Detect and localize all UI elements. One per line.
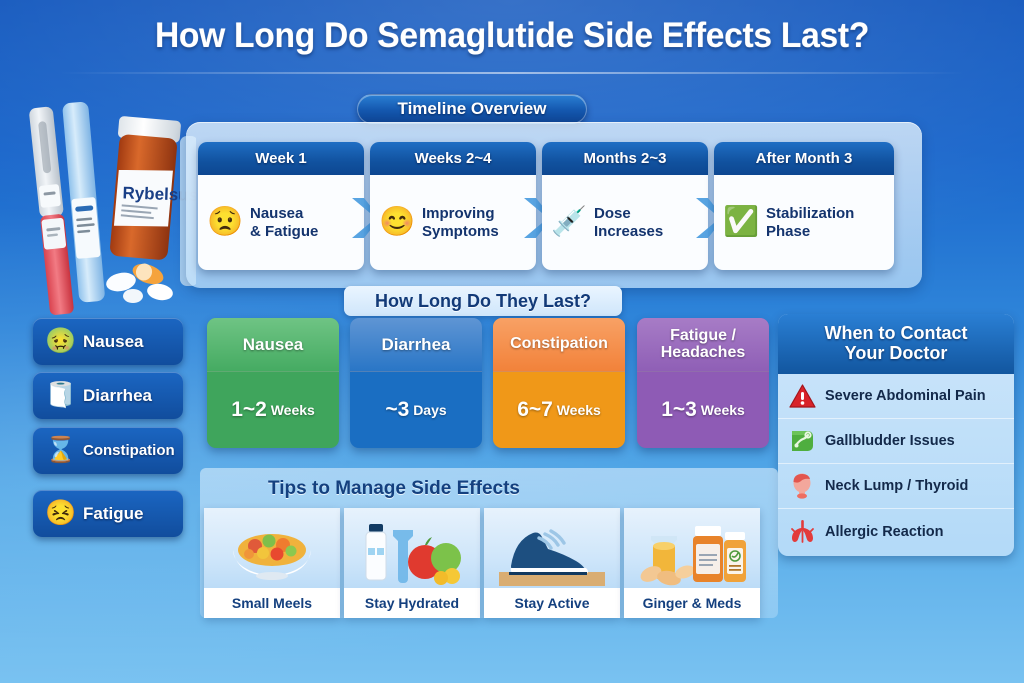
- page-title: How Long Do Semaglutide Side Effects Las…: [20, 16, 1003, 56]
- doctor-label-allergic-reaction: Allergic Reaction: [825, 524, 943, 540]
- ginger-meds-icon: [624, 508, 760, 588]
- duration-name-constipation: Constipation: [493, 318, 625, 372]
- contact-doctor-panel: When to Contact Your Doctor Severe Abdom…: [778, 314, 1014, 556]
- smiling-face-icon: 😊: [380, 206, 414, 240]
- contact-doctor-title-line2: Your Doctor: [845, 344, 948, 364]
- product-illustration: Rybelsus: [0, 96, 196, 326]
- duration-unit-constipation: Weeks: [557, 402, 601, 418]
- duration-unit-diarrhea: Days: [413, 402, 446, 418]
- duration-num-fatigue: 1~3: [661, 398, 697, 422]
- doctor-label-neck-lump: Neck Lump / Thyroid: [825, 478, 968, 494]
- timeline-label-4a: Stabilization: [766, 205, 854, 222]
- timeline-period-3: Months 2~3: [542, 142, 708, 175]
- duration-num-nausea: 1~2: [231, 398, 267, 422]
- timeline-card-4[interactable]: After Month 3 ✅ Stabilization Phase: [714, 142, 894, 270]
- doctor-item-neck-lump[interactable]: Neck Lump / Thyroid: [778, 464, 1014, 509]
- duration-value-fatigue: 1~3 Weeks: [637, 372, 769, 448]
- timeline-label-2b: Symptoms: [422, 223, 499, 240]
- symptom-chip-nausea[interactable]: 🤢 Nausea: [33, 318, 183, 365]
- doctor-label-abdominal-pain: Severe Abdominal Pain: [825, 388, 986, 404]
- duration-name-fatigue: Fatigue / Headaches: [637, 318, 769, 372]
- duration-card-constipation[interactable]: Constipation 6~7 Weeks: [493, 318, 625, 448]
- bowl-of-food-icon: [204, 508, 340, 588]
- tip-label-small-meals: Small Meels: [204, 588, 340, 618]
- tip-card-stay-hydrated[interactable]: Stay Hydrated: [344, 508, 480, 618]
- timeline-card-3[interactable]: Months 2~3 💉 Dose Increases: [542, 142, 708, 270]
- doctor-item-allergic-reaction[interactable]: Allergic Reaction: [778, 509, 1014, 554]
- duration-value-nausea: 1~2 Weeks: [207, 372, 339, 448]
- warning-triangle-icon: [788, 382, 816, 410]
- frowning-face-icon: 😟: [208, 206, 242, 240]
- timeline-label-3a: Dose: [594, 205, 663, 222]
- nauseated-face-icon: 🤢: [45, 329, 75, 354]
- timeline-period-1: Week 1: [198, 142, 364, 175]
- timeline-banner: Timeline Overview: [357, 94, 587, 124]
- symptom-chip-diarrhea[interactable]: 🧻 Diarrhea: [33, 372, 183, 419]
- duration-num-constipation: 6~7: [517, 398, 553, 422]
- duration-name-nausea: Nausea: [207, 318, 339, 372]
- duration-unit-fatigue: Weeks: [701, 402, 745, 418]
- timeline-label-2a: Improving: [422, 205, 499, 222]
- duration-unit-nausea: Weeks: [271, 402, 315, 418]
- title-divider: [60, 72, 964, 74]
- gallbladder-icon: [788, 427, 816, 455]
- duration-card-diarrhea[interactable]: Diarrhea ~3 Days: [350, 318, 482, 448]
- tip-card-small-meals[interactable]: Small Meels: [204, 508, 340, 618]
- symptom-chip-label-diarrhea: Diarrhea: [83, 386, 152, 406]
- timeline-label-1a: Nausea: [250, 205, 318, 222]
- timeline-label-1b: & Fatigue: [250, 223, 318, 240]
- toilet-paper-icon: 🧻: [45, 383, 75, 408]
- duration-name-diarrhea: Diarrhea: [350, 318, 482, 372]
- timeline-card-1[interactable]: Week 1 😟 Nausea & Fatigue: [198, 142, 364, 270]
- syringe-icon: 💉: [552, 206, 586, 240]
- tips-title: Tips to Manage Side Effects: [268, 478, 520, 500]
- symptom-chip-fatigue[interactable]: 😣 Fatigue: [33, 490, 183, 537]
- duration-banner: How Long Do They Last?: [344, 286, 622, 316]
- doctor-item-abdominal-pain[interactable]: Severe Abdominal Pain: [778, 374, 1014, 419]
- timeline-period-2: Weeks 2~4: [370, 142, 536, 175]
- duration-value-constipation: 6~7 Weeks: [493, 372, 625, 448]
- timeline-period-4: After Month 3: [714, 142, 894, 175]
- timeline-label-3b: Increases: [594, 223, 663, 240]
- doctor-item-gallbladder[interactable]: Gallbludder Issues: [778, 419, 1014, 464]
- check-mark-icon: ✅: [724, 206, 758, 240]
- duration-num-diarrhea: ~3: [385, 398, 409, 422]
- water-bottle-icon: [344, 508, 480, 588]
- duration-card-nausea[interactable]: Nausea 1~2 Weeks: [207, 318, 339, 448]
- tip-card-stay-active[interactable]: Stay Active: [484, 508, 620, 618]
- timeline-label-4b: Phase: [766, 223, 854, 240]
- tired-face-icon: 😣: [45, 501, 75, 526]
- tip-card-ginger-meds[interactable]: Ginger & Meds: [624, 508, 760, 618]
- symptom-chip-label-nausea: Nausea: [83, 332, 143, 352]
- contact-doctor-title: When to Contact Your Doctor: [778, 314, 1014, 374]
- tip-label-stay-active: Stay Active: [484, 588, 620, 618]
- tip-label-ginger-meds: Ginger & Meds: [624, 588, 760, 618]
- head-thyroid-icon: [788, 472, 816, 500]
- timeline-card-2[interactable]: Weeks 2~4 😊 Improving Symptoms: [370, 142, 536, 270]
- tip-label-stay-hydrated: Stay Hydrated: [344, 588, 480, 618]
- hourglass-icon: ⌛: [45, 438, 75, 463]
- running-shoe-icon: [484, 508, 620, 588]
- contact-doctor-title-line1: When to Contact: [825, 324, 968, 344]
- duration-value-diarrhea: ~3 Days: [350, 372, 482, 448]
- symptom-chip-label-constipation: Constipation: [83, 442, 175, 459]
- doctor-label-gallbladder: Gallbludder Issues: [825, 433, 955, 449]
- symptom-chip-constipation[interactable]: ⌛ Constipation: [33, 427, 183, 474]
- allergic-lungs-icon: [788, 518, 816, 546]
- duration-card-fatigue[interactable]: Fatigue / Headaches 1~3 Weeks: [637, 318, 769, 448]
- symptom-chip-label-fatigue: Fatigue: [83, 504, 143, 524]
